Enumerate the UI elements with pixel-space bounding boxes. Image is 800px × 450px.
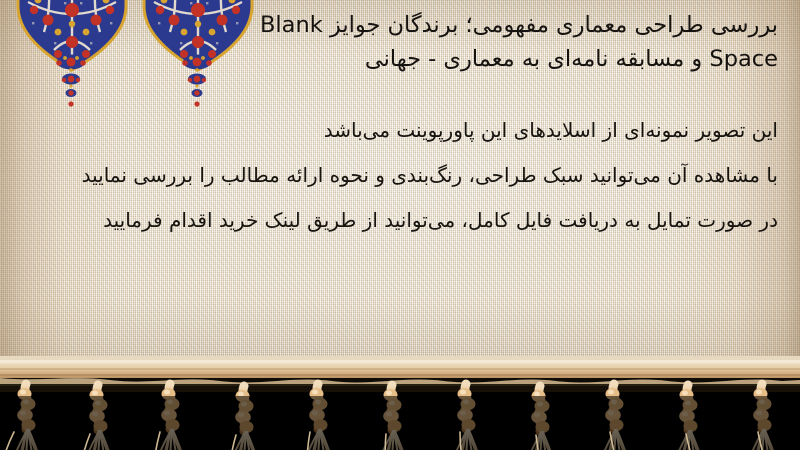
slide-body: این تصویر نمونه‌ای از اسلایدهای این پاور…: [18, 108, 778, 243]
slide-title: بررسی طراحی معماری مفهومی؛ برندگان جوایز…: [198, 8, 778, 76]
body-line-2: با مشاهده آن می‌توانید سبک طراحی، رنگ‌بن…: [18, 153, 778, 198]
body-line-1: این تصویر نمونه‌ای از اسلایدهای این پاور…: [18, 108, 778, 153]
title-line-2: Space و مسابقه نامه‌ای به معماری - جهانی: [198, 42, 778, 76]
title-line-1: بررسی طراحی معماری مفهومی؛ برندگان جوایز…: [198, 8, 778, 42]
body-line-3: در صورت تمایل به دریافت فایل کامل، می‌تو…: [18, 198, 778, 243]
knotted-carpet-fringe: [0, 356, 800, 450]
persian-pendant-motif-left: [48, 53, 94, 109]
slide-canvas: بررسی طراحی معماری مفهومی؛ برندگان جوایز…: [0, 0, 800, 450]
